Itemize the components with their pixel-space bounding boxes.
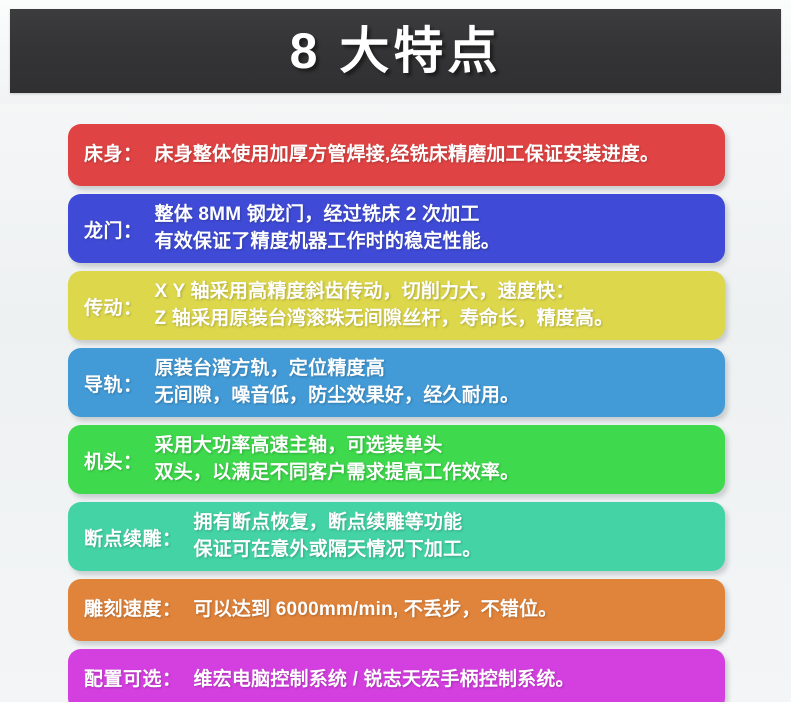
- feature-text: X Y 轴采用高精度斜齿传动，切削力大，速度快：Z 轴采用原装台湾滚珠无间隙丝杆…: [155, 279, 711, 333]
- feature-text-line: 双头，以满足不同客户需求提高工作效率。: [155, 460, 711, 487]
- feature-label: 断点续雕：: [84, 523, 194, 551]
- feature-label: 配置可选：: [84, 669, 194, 691]
- feature-text-line: 整体 8MM 钢龙门，经过铣床 2 次加工: [155, 202, 711, 229]
- feature-label: 雕刻速度：: [84, 599, 194, 621]
- feature-text-line: 采用大功率高速主轴，可选装单头: [155, 433, 711, 460]
- header-banner-bar: 8 大特点: [10, 9, 781, 93]
- feature-text-line: 无间隙，噪音低，防尘效果好，经久耐用。: [155, 383, 711, 410]
- feature-row-breakpoint-resume: 断点续雕：拥有断点恢复，断点续雕等功能保证可在意外或隔天情况下加工。: [68, 502, 725, 571]
- feature-list: 床身：床身整体使用加厚方管焊接,经铣床精磨加工保证安装进度。龙门：整体 8MM …: [0, 104, 791, 702]
- feature-row-spindle-head: 机头：采用大功率高速主轴，可选装单头双头，以满足不同客户需求提高工作效率。: [68, 425, 725, 494]
- feature-text-line: 可以达到 6000mm/min, 不丢步，不错位。: [194, 597, 711, 624]
- feature-text-line: Z 轴采用原装台湾滚珠无间隙丝杆，寿命长，精度高。: [155, 306, 711, 333]
- feature-text: 采用大功率高速主轴，可选装单头双头，以满足不同客户需求提高工作效率。: [155, 433, 711, 487]
- feature-text-line: 原装台湾方轨，定位精度高: [155, 356, 711, 383]
- header-banner: 8 大特点: [0, 0, 791, 104]
- feature-row-gantry: 龙门：整体 8MM 钢龙门，经过铣床 2 次加工有效保证了精度机器工作时的稳定性…: [68, 194, 725, 263]
- feature-label: 床身：: [84, 144, 155, 166]
- feature-label: 机头：: [84, 446, 155, 474]
- feature-row-guide-rail: 导轨：原装台湾方轨，定位精度高无间隙，噪音低，防尘效果好，经久耐用。: [68, 348, 725, 417]
- feature-text-line: 维宏电脑控制系统 / 锐志天宏手柄控制系统。: [194, 667, 711, 694]
- feature-row-optional-configuration: 配置可选：维宏电脑控制系统 / 锐志天宏手柄控制系统。: [68, 649, 725, 702]
- feature-label: 龙门：: [84, 215, 155, 243]
- page-title: 8 大特点: [290, 26, 502, 76]
- promo-page: 8 大特点 床身：床身整体使用加厚方管焊接,经铣床精磨加工保证安装进度。龙门：整…: [0, 0, 791, 702]
- feature-text-line: 床身整体使用加厚方管焊接,经铣床精磨加工保证安装进度。: [155, 142, 711, 169]
- feature-row-bed: 床身：床身整体使用加厚方管焊接,经铣床精磨加工保证安装进度。: [68, 124, 725, 186]
- feature-text: 维宏电脑控制系统 / 锐志天宏手柄控制系统。: [194, 667, 711, 694]
- feature-text-line: 拥有断点恢复，断点续雕等功能: [194, 510, 711, 537]
- feature-label: 传动：: [84, 292, 155, 320]
- feature-text: 可以达到 6000mm/min, 不丢步，不错位。: [194, 597, 711, 624]
- feature-text-line: 保证可在意外或隔天情况下加工。: [194, 537, 711, 564]
- feature-text-line: 有效保证了精度机器工作时的稳定性能。: [155, 229, 711, 256]
- feature-text: 床身整体使用加厚方管焊接,经铣床精磨加工保证安装进度。: [155, 142, 711, 169]
- feature-row-engraving-speed: 雕刻速度：可以达到 6000mm/min, 不丢步，不错位。: [68, 579, 725, 641]
- feature-text: 拥有断点恢复，断点续雕等功能保证可在意外或隔天情况下加工。: [194, 510, 711, 564]
- feature-text: 原装台湾方轨，定位精度高无间隙，噪音低，防尘效果好，经久耐用。: [155, 356, 711, 410]
- feature-label: 导轨：: [84, 369, 155, 397]
- feature-text-line: X Y 轴采用高精度斜齿传动，切削力大，速度快：: [155, 279, 711, 306]
- feature-row-transmission: 传动：X Y 轴采用高精度斜齿传动，切削力大，速度快：Z 轴采用原装台湾滚珠无间…: [68, 271, 725, 340]
- feature-text: 整体 8MM 钢龙门，经过铣床 2 次加工有效保证了精度机器工作时的稳定性能。: [155, 202, 711, 256]
